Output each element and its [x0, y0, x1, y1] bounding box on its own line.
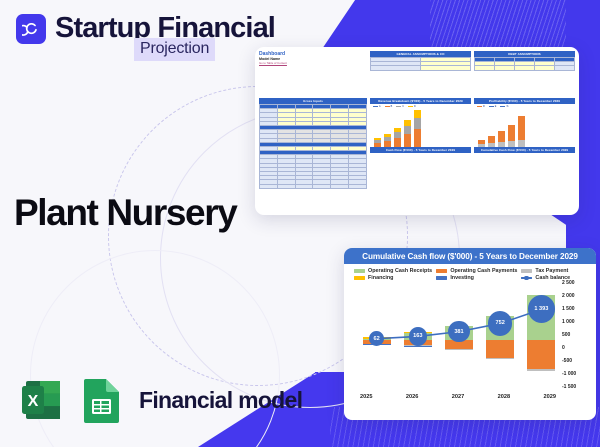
poster-canvas: Startup Financial Projection Plant Nurse… [0, 0, 600, 447]
brand-badge: Projection [134, 38, 215, 61]
legend-item: Financing [354, 275, 432, 281]
svg-text:X: X [28, 393, 39, 410]
chart-legend: Operating Cash Receipts Operating Cash P… [344, 264, 596, 283]
y-tick-label: -1 000 [562, 371, 576, 377]
dash-table [259, 104, 367, 189]
dash-header-left: Dashboard Model Name Go to Table of Cont… [259, 51, 367, 95]
legend-item: Operating Cash Receipts [354, 268, 432, 274]
dash-mini-chart [474, 109, 575, 147]
y-tick-label: -500 [562, 358, 572, 364]
x-tick-label: 2025 [360, 394, 372, 400]
google-sheets-icon [80, 375, 123, 425]
dash-panel-profitability-chart: Profitability ($'000) - 5 Years to Decem… [474, 98, 575, 211]
y-tick-label: 1 500 [562, 306, 575, 312]
excel-icon: X [18, 375, 68, 425]
dashboard-thumbnail: Dashboard Model Name Go to Table of Cont… [255, 47, 579, 215]
x-tick-label: 2029 [544, 394, 556, 400]
legend-item: Investing [436, 275, 517, 281]
chart-title: Cumulative Cash flow ($'000) - 5 Years t… [344, 248, 596, 264]
cash-balance-node: 381 [448, 321, 469, 342]
dash-table [474, 57, 575, 71]
dash-panel-revenue-chart: Revenue Breakdown ($'000) - 5 Years to D… [370, 98, 471, 211]
legend-label: Operating Cash Receipts [368, 268, 432, 274]
cash-balance-node: 752 [488, 311, 513, 336]
legend-label: Financing [368, 275, 393, 281]
legend-item: Operating Cash Payments [436, 268, 517, 274]
dash-toc-link[interactable]: Go to Table of Content [259, 61, 367, 65]
y-tick-label: 2 500 [562, 280, 575, 286]
y-tick-label: -1 500 [562, 384, 576, 390]
legend-item: Tax Payment [521, 268, 588, 274]
dash-panel-debt-assumptions: DEBT ASSUMPTIONS [474, 51, 575, 95]
dash-mini-chart [370, 109, 471, 147]
x-tick-label: 2027 [452, 394, 464, 400]
legend-label: Tax Payment [535, 268, 568, 274]
dash-table [370, 57, 471, 71]
chart-x-axis: 20252026202720282029 [360, 394, 556, 400]
y-tick-label: 0 [562, 345, 565, 351]
x-tick-label: 2026 [406, 394, 418, 400]
dash-panel-inputs: Gross Inputs [259, 98, 367, 211]
cumulative-cashflow-chart: Cumulative Cash flow ($'000) - 5 Years t… [344, 248, 596, 420]
y-tick-label: 2 000 [562, 293, 575, 299]
legend-label: Operating Cash Payments [450, 268, 517, 274]
cash-balance-node: 163 [409, 327, 427, 345]
legend-label: Investing [450, 275, 474, 281]
brand-logo [16, 14, 46, 44]
footer-label: Financial model [139, 387, 302, 414]
dash-panel-hdr: Cumulative Cash Flow ($'000) - 5 Years t… [474, 147, 575, 153]
page-title: Plant Nursery [14, 192, 236, 234]
y-tick-label: 500 [562, 332, 570, 338]
y-tick-label: 1 000 [562, 319, 575, 325]
chart-y-axis: 2 5002 0001 5001 0005000-500-1 000-1 500 [562, 280, 594, 390]
footer-row: X Financial model [18, 375, 302, 425]
chart-plot-area: 621633817521 393 [356, 285, 562, 391]
x-tick-label: 2028 [498, 394, 510, 400]
spiral-e-icon [22, 19, 41, 38]
dash-panel-general-assumptions: GENERAL ASSUMPTIONS & CO [370, 51, 471, 95]
dash-panel-hdr: Cash Flow ($'000) - 5 Years to December … [370, 147, 471, 153]
